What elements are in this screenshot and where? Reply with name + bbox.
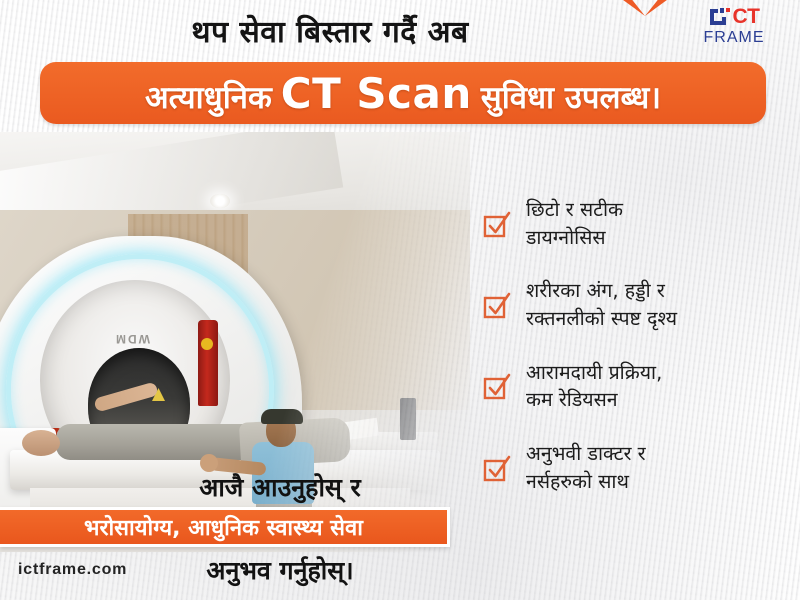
ceiling-light — [210, 194, 230, 208]
patient-head — [22, 430, 60, 456]
checkbox-checked-icon — [482, 290, 512, 320]
list-item-label: अनुभवी डाक्टर र नर्सहरुको साथ — [526, 440, 646, 495]
list-item: छिटो र सटीक डायग्नोसिस — [482, 196, 792, 251]
red-cylinder — [198, 320, 218, 406]
list-item-label: शरीरका अंग, हड्डी र रक्तनलीको स्पष्ट दृश… — [526, 277, 677, 332]
benefits-checklist: छिटो र सटीक डायग्नोसिस शरीरका अंग, हड्डी… — [482, 196, 792, 522]
headline-text: अत्याधुनिक CT Scan सुविधा उपलब्ध। — [145, 69, 661, 118]
technician-cap — [261, 409, 303, 424]
cta-banner-text: भरोसायोग्य, आधुनिक स्वास्थ्य सेवा — [84, 512, 363, 542]
list-item: आरामदायी प्रक्रिया, कम रेडियसन — [482, 359, 792, 414]
dark-monitor — [400, 398, 416, 440]
website-url: ictframe.com — [18, 561, 127, 579]
cta-line-three: अनुभव गर्नुहोस्। — [130, 553, 430, 587]
promo-poster: CT FRAME थप सेवा बिस्तार गर्दै अब अत्याध… — [0, 0, 800, 600]
cylinder-marker — [201, 338, 213, 350]
checkbox-checked-icon — [482, 453, 512, 483]
headline-suffix: सुविधा उपलब्ध। — [481, 76, 661, 118]
checkbox-checked-icon — [482, 371, 512, 401]
headline-prefix: अत्याधुनिक — [145, 76, 272, 118]
cta-banner: भरोसायोग्य, आधुनिक स्वास्थ्य सेवा — [0, 507, 450, 547]
machine-brand-label: WDM — [114, 332, 150, 346]
cta-line-one: आजै आउनुहोस् र — [130, 470, 430, 504]
list-item-label: छिटो र सटीक डायग्नोसिस — [526, 196, 623, 251]
list-item: अनुभवी डाक्टर र नर्सहरुको साथ — [482, 440, 792, 495]
headline-banner: अत्याधुनिक CT Scan सुविधा उपलब्ध। — [40, 62, 766, 124]
checkbox-checked-icon — [482, 209, 512, 239]
headline-highlight: CT Scan — [281, 69, 472, 118]
list-item: शरीरका अंग, हड्डी र रक्तनलीको स्पष्ट दृश… — [482, 277, 792, 332]
list-item-label: आरामदायी प्रक्रिया, कम रेडियसन — [526, 359, 662, 414]
page-title: थप सेवा बिस्तार गर्दै अब — [0, 10, 800, 51]
